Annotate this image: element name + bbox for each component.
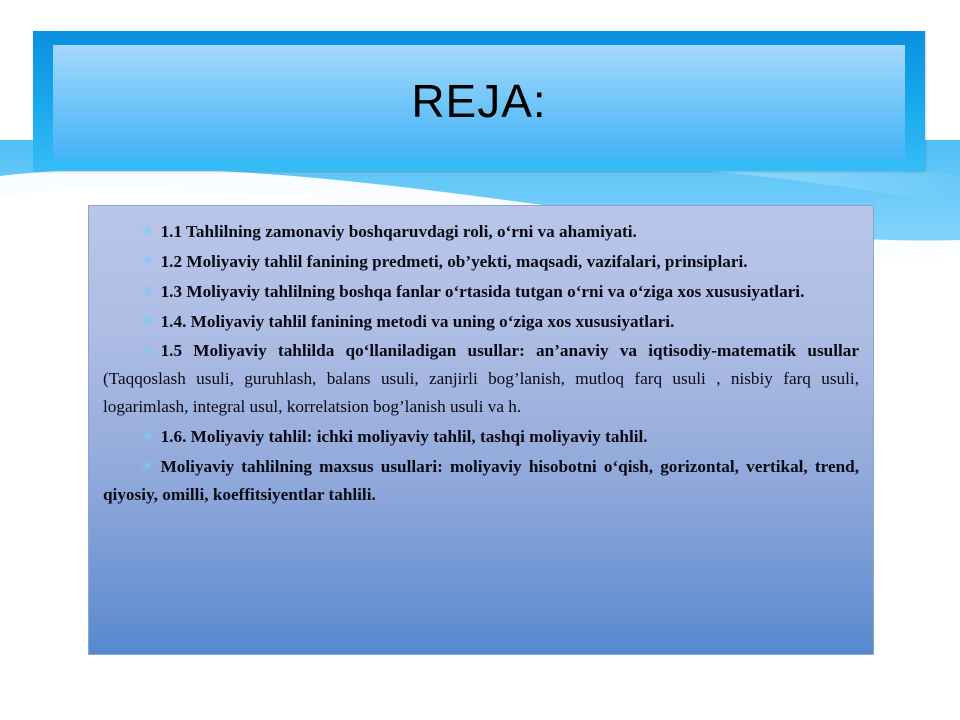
list-item-label: 1.5 Moliyaviy tahlilda qo‘llaniladigan u… — [161, 341, 859, 360]
slide-canvas: REJA: ✳1.1 Tahlilning zamonaviy boshqaru… — [0, 0, 960, 720]
list-item-label: 1.4. Moliyaviy tahlil fanining metodi va… — [161, 312, 675, 331]
list-item: ✳Moliyaviy tahlilning maxsus usullari: m… — [103, 453, 859, 509]
list-item: ✳1.4. Moliyaviy tahlil fanining metodi v… — [103, 308, 859, 336]
asterisk-bullet-icon: ✳ — [141, 314, 154, 330]
asterisk-bullet-icon: ✳ — [141, 224, 154, 240]
list-item-label: 1.1 Tahlilning zamonaviy boshqaruvdagi r… — [161, 222, 637, 241]
list-item: ✳1.5 Moliyaviy tahlilda qo‘llaniladigan … — [103, 337, 859, 421]
list-item-label: 1.2 Moliyaviy tahlil fanining predmeti, … — [161, 252, 748, 271]
agenda-content-box: ✳1.1 Tahlilning zamonaviy boshqaruvdagi … — [88, 205, 874, 655]
title-banner-inner: REJA: — [53, 45, 905, 159]
list-item: ✳1.1 Tahlilning zamonaviy boshqaruvdagi … — [103, 218, 859, 246]
list-item-label: Moliyaviy tahlilning maxsus usullari: mo… — [103, 457, 859, 504]
asterisk-bullet-icon: ✳ — [141, 284, 154, 300]
list-item: ✳1.2 Moliyaviy tahlil fanining predmeti,… — [103, 248, 859, 276]
list-item-detail: (Taqqoslash usuli, guruhlash, balans usu… — [103, 369, 859, 416]
page-title: REJA: — [53, 78, 905, 124]
title-banner: REJA: — [33, 31, 925, 171]
list-item-label: 1.3 Moliyaviy tahlilning boshqa fanlar o… — [161, 282, 805, 301]
asterisk-bullet-icon: ✳ — [141, 254, 154, 270]
asterisk-bullet-icon: ✳ — [141, 459, 154, 475]
asterisk-bullet-icon: ✳ — [141, 344, 154, 360]
list-item: ✳1.6. Moliyaviy tahlil: ichki moliyaviy … — [103, 423, 859, 451]
list-item: ✳1.3 Moliyaviy tahlilning boshqa fanlar … — [103, 278, 859, 306]
asterisk-bullet-icon: ✳ — [141, 429, 154, 445]
list-item-label: 1.6. Moliyaviy tahlil: ichki moliyaviy t… — [161, 427, 648, 446]
